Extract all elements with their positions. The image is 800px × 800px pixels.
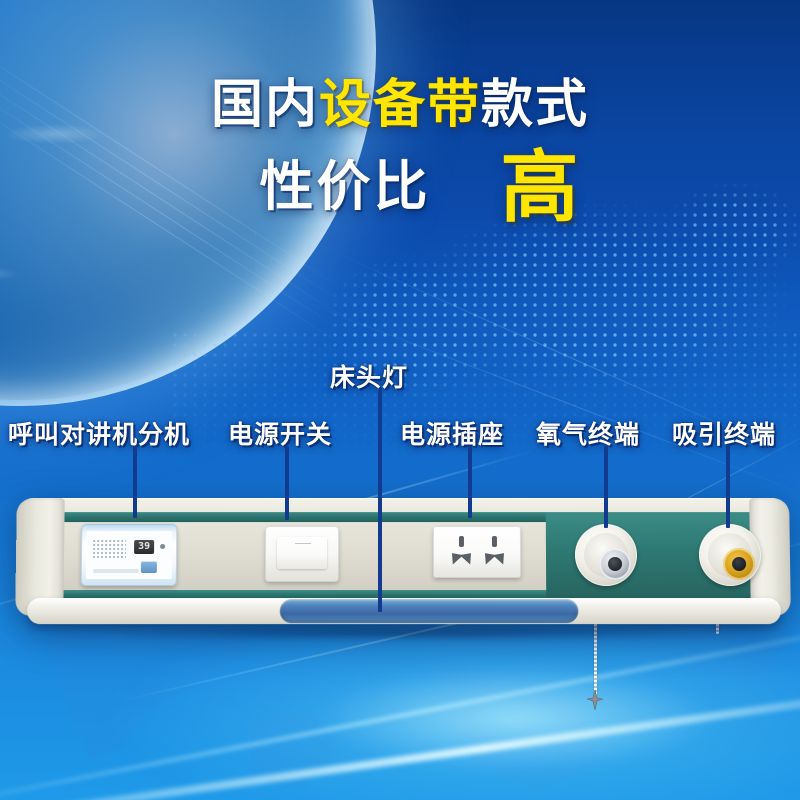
callout-label-intercom: 呼叫对讲机分机 <box>8 415 190 451</box>
leader-line-power-socket <box>468 446 472 518</box>
leader-line-bed-lamp <box>378 390 382 612</box>
leader-line-intercom <box>133 446 137 518</box>
callout-label-power-socket: 电源插座 <box>400 415 504 451</box>
promo-image: 国内设备带款式 性价比 高 呼叫对讲机分机 电源开关 床头灯 电源插座 氧气终端… <box>0 0 800 800</box>
callout-label-suction: 吸引终端 <box>672 415 776 451</box>
callout-label-power-switch: 电源开关 <box>228 415 332 451</box>
callout-label-bed-lamp: 床头灯 <box>330 358 408 394</box>
leader-line-oxygen <box>604 446 608 528</box>
leader-line-power-switch <box>285 446 289 520</box>
callout-layer: 呼叫对讲机分机 电源开关 床头灯 电源插座 氧气终端 吸引终端 <box>0 0 800 800</box>
callout-label-oxygen: 氧气终端 <box>536 415 640 451</box>
leader-line-suction <box>726 446 730 528</box>
